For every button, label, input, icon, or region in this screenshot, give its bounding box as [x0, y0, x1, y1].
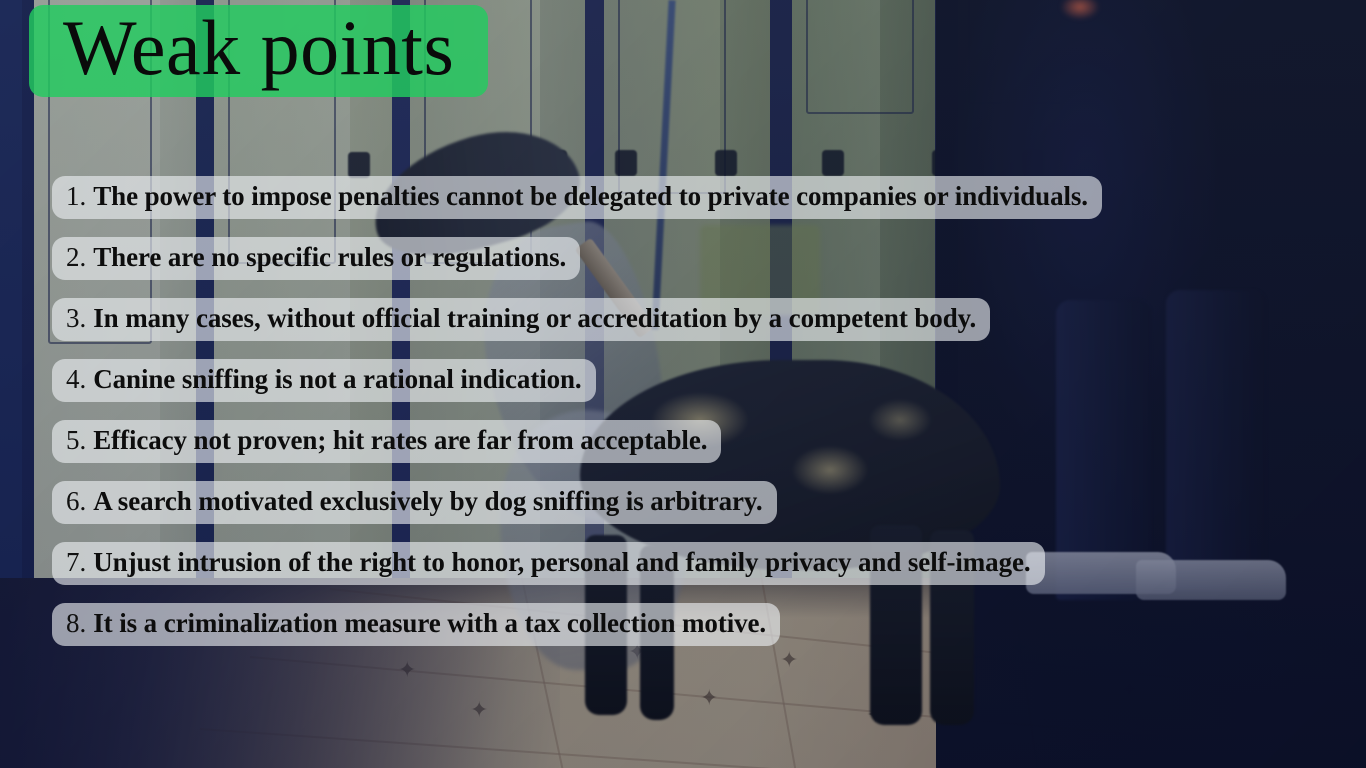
list-item-number: 6.	[66, 486, 86, 517]
list-item-text: Efficacy not proven; hit rates are far f…	[93, 425, 707, 456]
list-item: 8. It is a criminalization measure with …	[52, 603, 780, 646]
list-item-number: 7.	[66, 547, 86, 578]
list-item-number: 8.	[66, 608, 86, 639]
list-item-text: There are no specific rules or regulatio…	[93, 242, 566, 273]
weak-points-list: 1. The power to impose penalties cannot …	[52, 176, 1352, 664]
list-item-text: In many cases, without official training…	[93, 303, 976, 334]
list-item: 5. Efficacy not proven; hit rates are fa…	[52, 420, 721, 463]
list-item-number: 1.	[66, 181, 86, 212]
list-item: 7. Unjust intrusion of the right to hono…	[52, 542, 1045, 585]
list-item-number: 3.	[66, 303, 86, 334]
list-item-number: 2.	[66, 242, 86, 273]
list-item-text: It is a criminalization measure with a t…	[93, 608, 766, 639]
list-item-text: The power to impose penalties cannot be …	[93, 181, 1088, 212]
list-item-number: 4.	[66, 364, 86, 395]
list-item-text: A search motivated exclusively by dog sn…	[93, 486, 762, 517]
list-item: 6. A search motivated exclusively by dog…	[52, 481, 777, 524]
page-title: Weak points	[63, 9, 454, 87]
list-item: 2. There are no specific rules or regula…	[52, 237, 580, 280]
list-item-text: Canine sniffing is not a rational indica…	[93, 364, 581, 395]
list-item: 1. The power to impose penalties cannot …	[52, 176, 1102, 219]
list-item-number: 5.	[66, 425, 86, 456]
slide-canvas: ✦ ✦ ✦ ✦ ✦ ✦ ✦ ✦ ✦ ✦	[0, 0, 1366, 768]
title-banner: Weak points	[29, 5, 488, 97]
list-item: 3. In many cases, without official train…	[52, 298, 990, 341]
list-item: 4. Canine sniffing is not a rational ind…	[52, 359, 596, 402]
list-item-text: Unjust intrusion of the right to honor, …	[93, 547, 1030, 578]
